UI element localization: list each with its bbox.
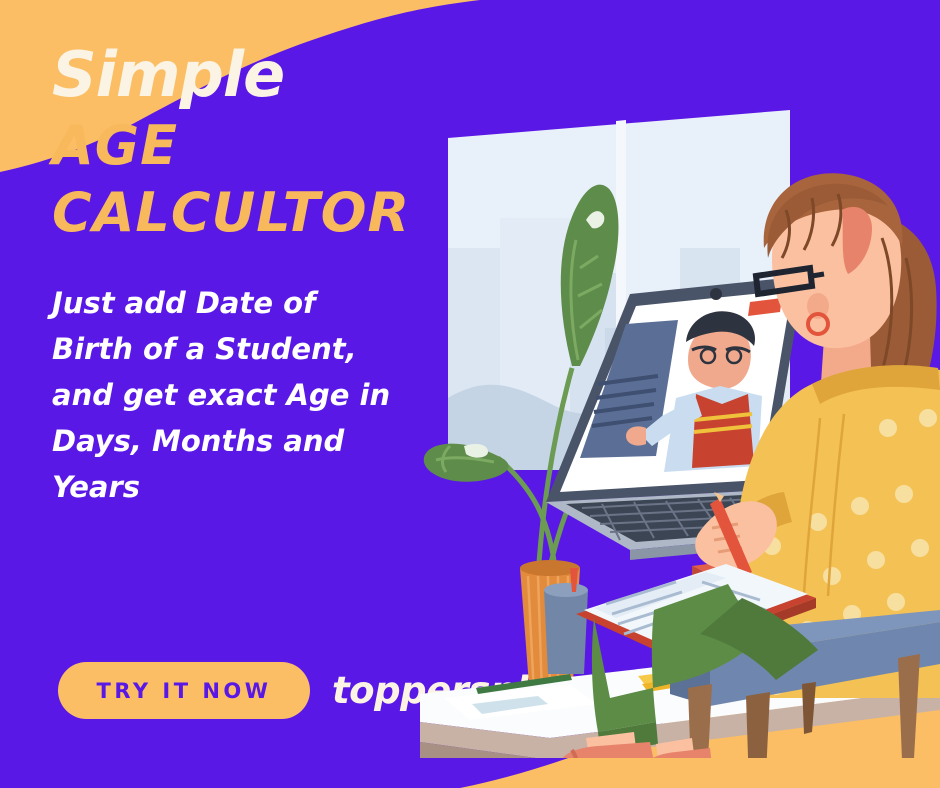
poster-canvas: Simple AGE CALCULTOR Just add Date of Bi…: [0, 0, 940, 788]
try-it-now-button[interactable]: TRY IT NOW: [58, 662, 310, 719]
headline-block: Simple AGE CALCULTOR Just add Date of Bi…: [52, 44, 452, 510]
student-studying-illustration: [420, 98, 940, 758]
subtitle-text: Just add Date of Birth of a Student, and…: [52, 281, 402, 510]
headline-line-calculator: CALCULTOR: [52, 185, 452, 242]
headline-line-simple: Simple: [52, 44, 452, 106]
headline-line-age: AGE: [52, 118, 452, 175]
